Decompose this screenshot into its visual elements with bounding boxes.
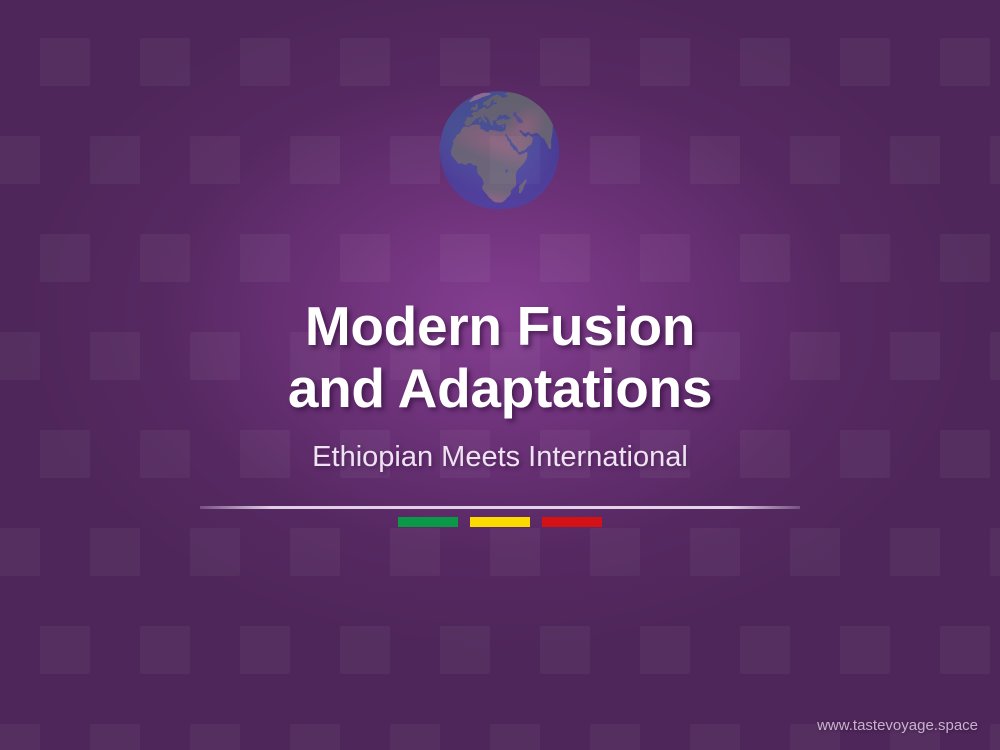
footer-url: www.tastevoyage.space <box>817 717 978 734</box>
accent-bar-red <box>542 517 602 527</box>
accent-bar-group <box>0 517 1000 527</box>
globe-icon: 🌍 <box>0 96 1000 204</box>
slide-subtitle: Ethiopian Meets International <box>0 441 1000 474</box>
page-title: Modern Fusion and Adaptations <box>0 296 1000 419</box>
accent-bar-green <box>398 517 458 527</box>
title-block: Modern Fusion and Adaptations Ethiopian … <box>0 296 1000 474</box>
presentation-slide: 🌍 Modern Fusion and Adaptations Ethiopia… <box>0 0 1000 750</box>
accent-bar-yellow <box>470 517 530 527</box>
divider-rule <box>200 506 800 509</box>
